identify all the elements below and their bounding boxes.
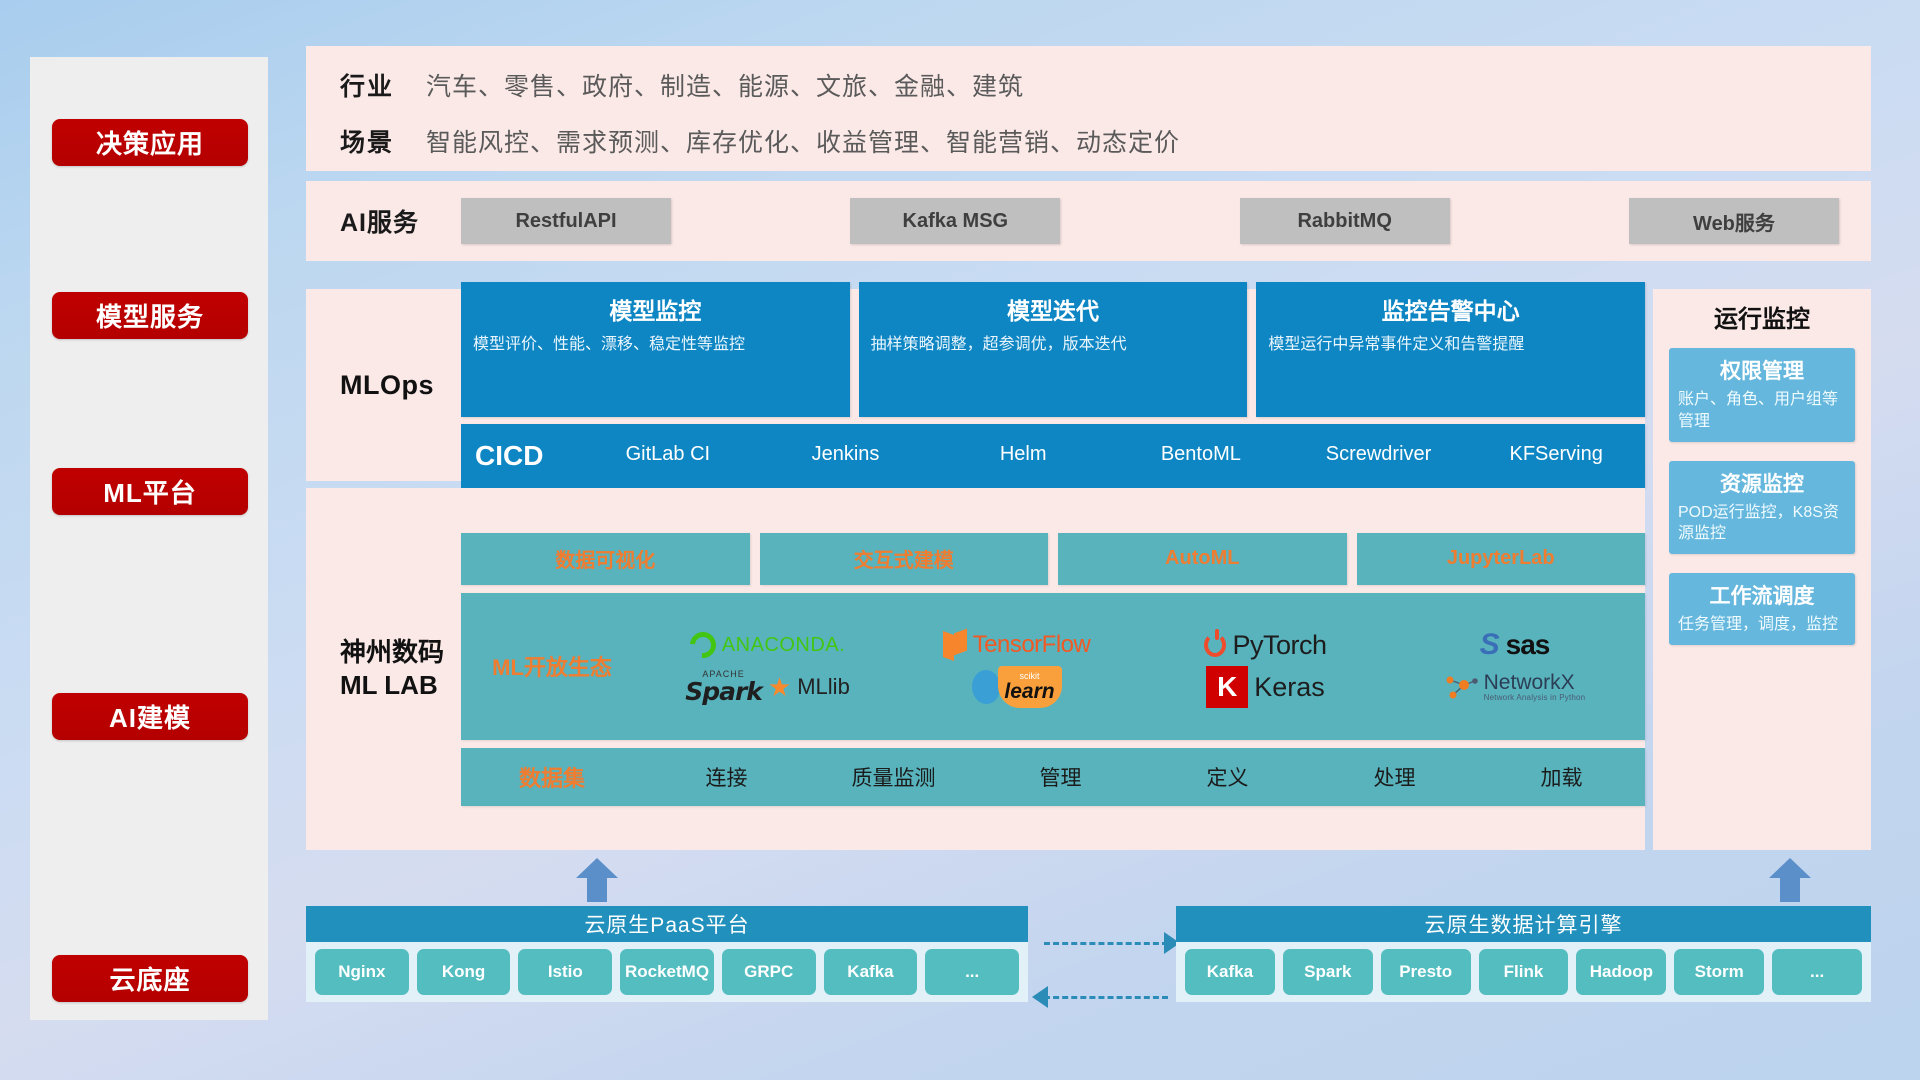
cloud-compute-engine-header: 云原生数据计算引擎 (1176, 906, 1871, 942)
keras-mark-icon: K (1206, 666, 1248, 708)
tab-data-visualization[interactable]: 数据可视化 (461, 533, 750, 585)
networkx-logo[interactable]: NetworkX Network Analysis in Python (1444, 671, 1586, 703)
ai-service-chip-web-service[interactable]: Web服务 (1629, 198, 1839, 244)
mlops-card-model-monitoring[interactable]: 模型监控 模型评价、性能、漂移、稳定性等监控 (461, 282, 850, 417)
cloud-chip-grpc[interactable]: GRPC (722, 949, 816, 995)
ai-service-chip-restfulapi[interactable]: RestfulAPI (461, 198, 671, 244)
dataset-item-load[interactable]: 加载 (1478, 762, 1645, 792)
cloud-paas-panel: 云原生PaaS平台 Nginx Kong Istio RocketMQ GRPC… (306, 906, 1028, 1034)
monitor-card-permission[interactable]: 权限管理 账户、角色、用户组等管理 (1669, 348, 1855, 442)
card-title: 模型迭代 (871, 292, 1236, 326)
cloud-compute-engine-chip-group: Kafka Spark Presto Flink Hadoop Storm ..… (1176, 942, 1871, 1002)
card-desc: 抽样策略调整，超参调优，版本迭代 (871, 334, 1236, 357)
mlops-card-alert-center[interactable]: 监控告警中心 模型运行中异常事件定义和告警提醒 (1256, 282, 1645, 417)
cloud-chip-nginx[interactable]: Nginx (315, 949, 409, 995)
mlops-band: MLOps 模型监控 模型评价、性能、漂移、稳定性等监控 模型迭代 抽样策略调整… (306, 289, 1645, 481)
networkx-graph-icon (1444, 672, 1478, 702)
industry-label: 行业 (306, 67, 426, 103)
spark-logo-text: Spark (685, 679, 762, 704)
dataset-capability-bar: 数据集 连接 质量监测 管理 定义 处理 加载 (461, 748, 1645, 806)
scikit-blob-icon (972, 670, 1000, 704)
cloud-chip-kafka[interactable]: Kafka (824, 949, 918, 995)
cicd-item-helm[interactable]: Helm (934, 444, 1112, 464)
card-title: 资源监控 (1678, 468, 1846, 498)
spark-star-icon: ★ (768, 672, 791, 703)
anaconda-logo[interactable]: ANACONDA. (690, 632, 845, 658)
tensorflow-logo[interactable]: TensorFlow (943, 631, 1091, 659)
scenario-label: 场景 (306, 123, 426, 159)
layer-rail-panel: 决策应用 模型服务 ML平台 AI建模 云底座 (30, 57, 268, 1020)
tensorflow-logo-text: TensorFlow (973, 631, 1091, 659)
cicd-item-kfserving[interactable]: KFServing (1467, 444, 1645, 464)
dataset-item-manage[interactable]: 管理 (977, 762, 1144, 792)
industry-scenario-band: 行业 汽车、零售、政府、制造、能源、文旅、金融、建筑 场景 智能风控、需求预测、… (306, 46, 1871, 171)
cloud-compute-engine-panel: 云原生数据计算引擎 Kafka Spark Presto Flink Hadoo… (1176, 906, 1871, 1034)
runtime-monitor-title: 运行监控 (1669, 299, 1855, 334)
cloud-chip-kong[interactable]: Kong (417, 949, 511, 995)
sas-logo-text: sas (1506, 629, 1550, 661)
ai-service-label: AI服务 (306, 203, 461, 239)
ai-service-chip-rabbitmq[interactable]: RabbitMQ (1240, 198, 1450, 244)
keras-logo-text: Keras (1254, 672, 1325, 703)
anaconda-ring-icon (684, 627, 721, 664)
card-title: 监控告警中心 (1268, 292, 1633, 326)
cicd-item-gitlab-ci[interactable]: GitLab CI (579, 444, 757, 464)
card-desc: 账户、角色、用户组等管理 (1678, 389, 1846, 433)
tensorflow-mark-icon (943, 631, 967, 659)
card-desc: 模型评价、性能、漂移、稳定性等监控 (473, 334, 838, 357)
pytorch-logo-text: PyTorch (1232, 630, 1326, 661)
ai-service-chip-kafka-msg[interactable]: Kafka MSG (850, 198, 1060, 244)
spark-mllib-logo[interactable]: APACHE Spark ★ MLlib (685, 670, 850, 704)
ai-service-chip-group: RestfulAPI Kafka MSG RabbitMQ Web服务 (461, 198, 1871, 244)
ml-lab-label-line2: ML LAB (340, 669, 461, 702)
cicd-item-bentoml[interactable]: BentoML (1112, 444, 1290, 464)
card-desc: POD运行监控，K8S资源监控 (1678, 502, 1846, 546)
connector-arrow-left (1044, 996, 1168, 999)
industry-row: 行业 汽车、零售、政府、制造、能源、文旅、金融、建筑 (306, 62, 1871, 108)
industry-value: 汽车、零售、政府、制造、能源、文旅、金融、建筑 (426, 67, 1024, 103)
rail-badge-ml-platform[interactable]: ML平台 (52, 468, 248, 515)
dataset-item-quality-check[interactable]: 质量监测 (810, 762, 977, 792)
networkx-logo-text: NetworkX (1484, 671, 1586, 694)
sas-logo[interactable]: S sas (1480, 628, 1550, 662)
rail-badge-cloud-foundation[interactable]: 云底座 (52, 955, 248, 1002)
mllib-logo-text: MLlib (797, 674, 850, 700)
scikit-learn-text: learn (1004, 681, 1054, 702)
cloud-chip-rocketmq[interactable]: RocketMQ (620, 949, 714, 995)
compute-chip-hadoop[interactable]: Hadoop (1576, 949, 1666, 995)
cloud-paas-chip-group: Nginx Kong Istio RocketMQ GRPC Kafka ... (306, 942, 1028, 1002)
pytorch-flame-icon (1204, 633, 1226, 657)
pytorch-logo[interactable]: PyTorch (1204, 630, 1326, 661)
ml-ecosystem-box: ML开放生态 ANACONDA. TensorFlow PyTorch (461, 593, 1645, 740)
ml-ecosystem-logo-grid: ANACONDA. TensorFlow PyTorch S sas (643, 624, 1639, 708)
mlops-card-group: 模型监控 模型评价、性能、漂移、稳定性等监控 模型迭代 抽样策略调整，超参调优，… (461, 282, 1645, 417)
mlops-card-model-iteration[interactable]: 模型迭代 抽样策略调整，超参调优，版本迭代 (859, 282, 1248, 417)
scikit-tile-icon: scikit learn (998, 666, 1062, 708)
card-title: 模型监控 (473, 292, 838, 326)
compute-chip-spark[interactable]: Spark (1283, 949, 1373, 995)
ml-lab-label-line1: 神州数码 (340, 636, 461, 669)
cicd-toolchain-bar: CICD GitLab CI Jenkins Helm BentoML Scre… (461, 424, 1645, 488)
compute-chip-flink[interactable]: Flink (1479, 949, 1569, 995)
ml-lab-tab-group: 数据可视化 交互式建模 AutoML JupyterLab (461, 533, 1645, 585)
cicd-item-jenkins[interactable]: Jenkins (757, 444, 935, 464)
dataset-item-connect[interactable]: 连接 (643, 762, 810, 792)
cicd-item-screwdriver[interactable]: Screwdriver (1290, 444, 1468, 464)
cicd-label: CICD (461, 440, 579, 472)
architecture-main-column: 行业 汽车、零售、政府、制造、能源、文旅、金融、建筑 场景 智能风控、需求预测、… (306, 0, 1871, 1080)
scenario-row: 场景 智能风控、需求预测、库存优化、收益管理、智能营销、动态定价 (306, 118, 1871, 164)
monitor-card-workflow[interactable]: 工作流调度 任务管理，调度，监控 (1669, 573, 1855, 645)
rail-badge-model-service[interactable]: 模型服务 (52, 292, 248, 339)
tab-automl[interactable]: AutoML (1058, 533, 1347, 585)
runtime-monitor-panel: 运行监控 权限管理 账户、角色、用户组等管理 资源监控 POD运行监控，K8S资… (1653, 289, 1871, 850)
compute-chip-more[interactable]: ... (1772, 949, 1862, 995)
ml-lab-label: 神州数码 ML LAB (306, 636, 461, 703)
sas-swoosh-icon: S (1480, 628, 1500, 662)
ml-lab-band: 神州数码 ML LAB 数据可视化 交互式建模 AutoML JupyterLa… (306, 488, 1645, 850)
compute-engine-up-arrow-icon (1767, 858, 1813, 902)
paas-up-arrow-icon (574, 858, 620, 902)
tab-interactive-modeling[interactable]: 交互式建模 (760, 533, 1049, 585)
card-desc: 模型运行中异常事件定义和告警提醒 (1268, 334, 1633, 357)
mlops-label: MLOps (306, 370, 461, 401)
ml-ecosystem-title: ML开放生态 (461, 650, 643, 682)
dataset-item-process[interactable]: 处理 (1311, 762, 1478, 792)
compute-chip-storm[interactable]: Storm (1674, 949, 1764, 995)
dataset-label: 数据集 (461, 761, 643, 793)
rail-badge-decision-app[interactable]: 决策应用 (52, 119, 248, 166)
compute-chip-presto[interactable]: Presto (1381, 949, 1471, 995)
scenario-value: 智能风控、需求预测、库存优化、收益管理、智能营销、动态定价 (426, 123, 1180, 159)
cloud-chip-more[interactable]: ... (925, 949, 1019, 995)
keras-logo[interactable]: K Keras (1206, 666, 1325, 708)
rail-badge-ai-modeling[interactable]: AI建模 (52, 693, 248, 740)
cloud-chip-istio[interactable]: Istio (518, 949, 612, 995)
anaconda-logo-text: ANACONDA. (722, 634, 845, 657)
dataset-item-define[interactable]: 定义 (1144, 762, 1311, 792)
connector-arrow-right (1044, 942, 1168, 945)
ai-service-band: AI服务 RestfulAPI Kafka MSG RabbitMQ Web服务 (306, 181, 1871, 261)
networkx-tagline: Network Analysis in Python (1484, 694, 1586, 703)
card-title: 权限管理 (1678, 355, 1846, 385)
card-title: 工作流调度 (1678, 580, 1846, 610)
monitor-card-resource[interactable]: 资源监控 POD运行监控，K8S资源监控 (1669, 461, 1855, 555)
card-desc: 任务管理，调度，监控 (1678, 614, 1846, 636)
scikit-learn-logo[interactable]: scikit learn (972, 666, 1062, 708)
tab-jupyterlab[interactable]: JupyterLab (1357, 533, 1646, 585)
ml-lab-content: 数据可视化 交互式建模 AutoML JupyterLab ML开放生态 ANA… (461, 533, 1645, 806)
connector-arrowhead-left (1032, 986, 1048, 1008)
mlops-content: 模型监控 模型评价、性能、漂移、稳定性等监控 模型迭代 抽样策略调整，超参调优，… (461, 282, 1645, 488)
compute-chip-kafka[interactable]: Kafka (1185, 949, 1275, 995)
cloud-paas-header: 云原生PaaS平台 (306, 906, 1028, 942)
